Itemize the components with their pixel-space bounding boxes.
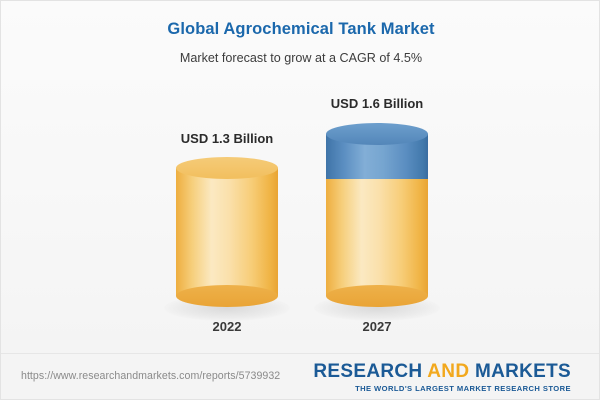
bar-bottom-cap-2027 <box>326 285 428 307</box>
bar-value-label-2022: USD 1.3 Billion <box>127 131 327 146</box>
bar-group-2027: USD 1.6 Billion 2027 <box>326 1 428 353</box>
bar-value-label-2027: USD 1.6 Billion <box>277 96 477 111</box>
bar-body-base-2027 <box>326 168 428 296</box>
bar-top-cap-2027 <box>326 123 428 145</box>
chart-footer: https://www.researchandmarkets.com/repor… <box>1 353 599 400</box>
source-url[interactable]: https://www.researchandmarkets.com/repor… <box>21 370 280 382</box>
logo-word-markets: MARKETS <box>475 361 571 382</box>
logo-wordmark: RESEARCH AND MARKETS <box>313 361 571 383</box>
logo-tagline: THE WORLD'S LARGEST MARKET RESEARCH STOR… <box>313 384 571 394</box>
chart-plot-area: USD 1.3 Billion 2022 USD 1.6 Billion <box>1 1 600 353</box>
bar-top-cap-2022 <box>176 157 278 179</box>
research-and-markets-logo[interactable]: RESEARCH AND MARKETS THE WORLD'S LARGEST… <box>313 361 571 394</box>
axis-label-2027: 2027 <box>277 319 477 334</box>
logo-word-research: RESEARCH <box>313 361 422 382</box>
bar-body-2022 <box>176 168 278 296</box>
logo-word-and: AND <box>427 361 469 382</box>
bar-cylinder-2022 <box>176 157 278 307</box>
bar-bottom-cap-2022 <box>176 285 278 307</box>
bar-cylinder-2027 <box>326 123 428 307</box>
bar-group-2022: USD 1.3 Billion 2022 <box>176 1 278 353</box>
chart-canvas: Global Agrochemical Tank Market Market f… <box>0 0 600 400</box>
